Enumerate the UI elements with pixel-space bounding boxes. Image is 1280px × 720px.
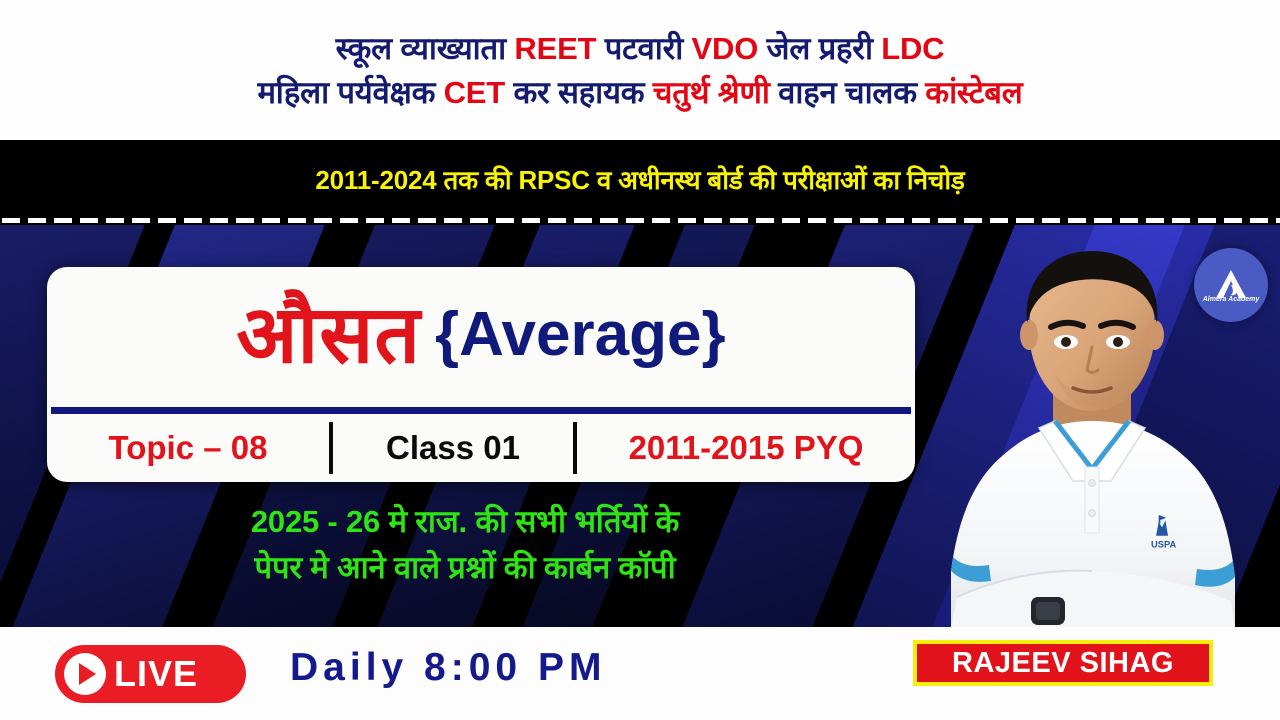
header-run-1: CET <box>444 75 505 110</box>
promo-text-block: 2025 - 26 मे राज. की सभी भर्तियों के पेप… <box>70 500 860 588</box>
schedule-label: Daily 8:00 PM <box>290 646 606 690</box>
banner-text: 2011-2024 तक की RPSC व अधीनस्थ बोर्ड की … <box>315 161 964 197</box>
title-english: {Average} <box>435 304 726 366</box>
promo-line-1: 2025 - 26 मे राज. की सभी भर्तियों के <box>70 500 860 542</box>
live-badge[interactable]: LIVE <box>55 645 246 703</box>
play-icon <box>64 653 106 695</box>
lesson-title-card: औसत {Average} Topic – 08 Class 01 2011-2… <box>47 267 915 482</box>
header-line-2: महिला पर्यवेक्षक CET कर सहायक चतुर्थ श्र… <box>257 71 1022 113</box>
title-hindi: औसत <box>236 295 421 375</box>
header-run-1: REET <box>514 31 596 66</box>
logo-name: Almera Academy <box>1203 296 1260 303</box>
header-run-4: जेल प्रहरी <box>758 31 881 66</box>
promo-line-2: पेपर मे आने वाले प्रश्नों की कार्बन कॉपी <box>70 546 860 588</box>
instructor-name: RAJEEV SIHAG <box>952 647 1174 680</box>
header-run-5: कांस्टेबल <box>925 75 1022 110</box>
dashed-divider <box>0 216 1280 225</box>
header-run-2: कर सहायक <box>505 75 653 110</box>
title-row: औसत {Average} <box>47 267 915 407</box>
syllabus-scope-banner: 2011-2024 तक की RPSC व अधीनस्थ बोर्ड की … <box>0 140 1280 218</box>
header-run-5: LDC <box>881 31 944 66</box>
svg-text:USPA: USPA <box>1151 540 1177 550</box>
header-run-4: वाहन चालक <box>770 75 926 110</box>
live-label: LIVE <box>114 653 198 695</box>
class-label: Class 01 <box>333 429 573 467</box>
header-run-0: स्कूल व्याख्याता <box>336 31 515 66</box>
topic-label: Topic – 08 <box>47 429 329 467</box>
exam-list-header: स्कूल व्याख्याता REET पटवारी VDO जेल प्र… <box>0 0 1280 140</box>
header-run-0: महिला पर्यवेक्षक <box>257 75 443 110</box>
instructor-name-badge: RAJEEV SIHAG <box>913 640 1213 686</box>
lesson-meta-row: Topic – 08 Class 01 2011-2015 PYQ <box>47 414 915 482</box>
pyq-label: 2011-2015 PYQ <box>577 429 915 467</box>
header-line-1: स्कूल व्याख्याता REET पटवारी VDO जेल प्र… <box>336 27 945 69</box>
card-divider <box>51 407 911 414</box>
header-run-2: पटवारी <box>596 31 691 66</box>
header-run-3: चतुर्थ श्रेणी <box>653 75 770 110</box>
header-run-3: VDO <box>692 31 759 66</box>
academy-logo: Almera Academy <box>1194 248 1268 322</box>
